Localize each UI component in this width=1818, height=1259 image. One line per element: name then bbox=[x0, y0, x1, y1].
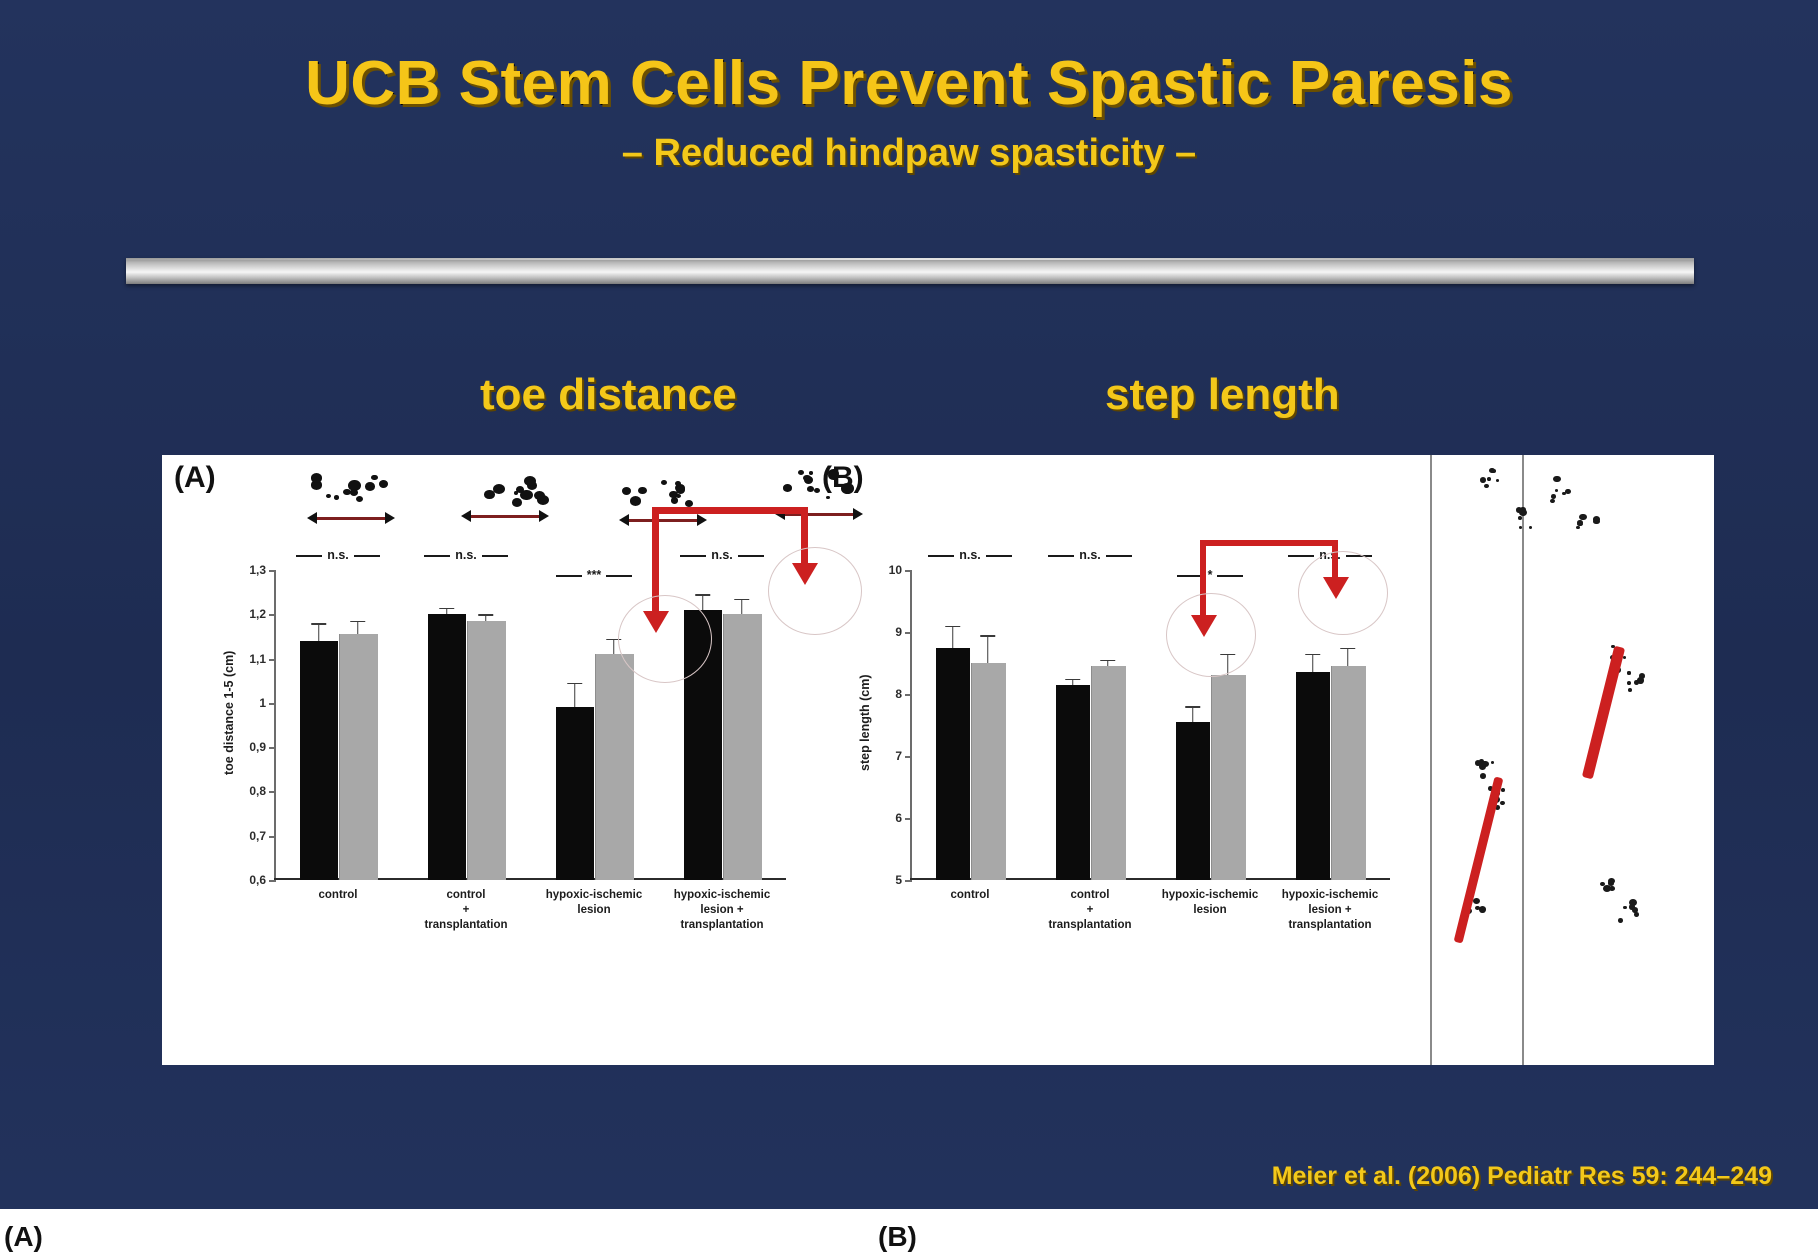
external-label-a: (A) bbox=[4, 1221, 43, 1253]
paw-pad bbox=[1553, 476, 1560, 483]
error-bar bbox=[1312, 654, 1314, 673]
y-tick bbox=[269, 703, 276, 705]
x-category-label: hypoxic-ischemic lesion bbox=[1150, 888, 1270, 918]
paw-pad bbox=[1484, 484, 1489, 489]
paw-pad bbox=[1576, 526, 1579, 529]
paw-pad bbox=[676, 494, 681, 498]
paw-pad bbox=[1550, 499, 1555, 504]
y-tick-label: 0,7 bbox=[249, 829, 266, 843]
paw-pad bbox=[1501, 788, 1505, 792]
paw-pad bbox=[1637, 677, 1645, 684]
error-bar bbox=[1107, 660, 1109, 666]
y-tick bbox=[269, 614, 276, 616]
distance-arrow bbox=[316, 517, 386, 520]
paw-pad bbox=[537, 495, 549, 505]
paw-pad bbox=[1519, 509, 1527, 516]
significance-annotation: n.s. bbox=[910, 548, 1030, 562]
bar bbox=[339, 634, 378, 880]
paw-print bbox=[1590, 865, 1616, 895]
paw-pad bbox=[1608, 878, 1615, 884]
paw-pad bbox=[1519, 526, 1523, 529]
bar bbox=[1296, 672, 1330, 880]
paw-pad bbox=[1491, 469, 1495, 473]
chart-a-plot-area: 1,31,21,110,90,80,70,6 bbox=[274, 570, 786, 880]
error-bar bbox=[485, 614, 487, 621]
paw-print bbox=[1478, 465, 1504, 495]
paw-pad bbox=[1628, 688, 1633, 692]
red-trajectory-line-right bbox=[1582, 646, 1625, 780]
y-tick bbox=[269, 570, 276, 572]
paw-pad bbox=[1623, 906, 1626, 909]
paw-pad bbox=[685, 500, 693, 507]
paw-print bbox=[1510, 503, 1536, 533]
citation: Meier et al. (2006) Pediatr Res 59: 244–… bbox=[1272, 1162, 1772, 1191]
paw-pad bbox=[1491, 761, 1494, 764]
y-tick-label: 0,9 bbox=[249, 740, 266, 754]
highlight-ellipse-b-right bbox=[1298, 551, 1388, 635]
bar bbox=[300, 641, 338, 880]
x-category-label: hypoxic-ischemic lesion bbox=[530, 888, 658, 918]
paw-pad bbox=[1487, 477, 1491, 481]
paw-pad bbox=[1627, 671, 1630, 674]
y-tick-label: 7 bbox=[895, 749, 902, 763]
significance-annotation: n.s. bbox=[658, 548, 786, 562]
y-tick-label: 0,6 bbox=[249, 873, 266, 887]
y-tick bbox=[269, 791, 276, 793]
error-bar bbox=[613, 639, 615, 655]
paw-pad bbox=[326, 494, 331, 498]
x-category-label: control + transplantation bbox=[1030, 888, 1150, 933]
paw-print-cluster bbox=[454, 467, 564, 533]
paw-pad bbox=[1496, 479, 1499, 482]
paw-pad bbox=[798, 470, 804, 475]
bar bbox=[723, 614, 762, 880]
figure-panel: (A) (B) toe distance 1-5 (cm) 1,31,21,11… bbox=[162, 455, 1714, 1065]
y-tick bbox=[269, 747, 276, 749]
paw-pad bbox=[1593, 516, 1600, 522]
y-tick-label: 8 bbox=[895, 687, 902, 701]
paw-pad bbox=[676, 485, 686, 493]
significance-annotation: n.s. bbox=[274, 548, 402, 562]
paw-pad bbox=[809, 471, 813, 475]
paw-pad bbox=[1555, 489, 1558, 492]
error-bar bbox=[318, 623, 320, 641]
distance-arrow bbox=[628, 519, 698, 522]
x-category-label: hypoxic-ischemic lesion + transplantatio… bbox=[658, 888, 786, 933]
y-tick-label: 5 bbox=[895, 873, 902, 887]
bar bbox=[1176, 722, 1210, 880]
paw-pad bbox=[1629, 899, 1637, 906]
bar bbox=[971, 663, 1006, 880]
bar bbox=[1211, 675, 1246, 880]
paw-print bbox=[1616, 895, 1642, 925]
bar bbox=[595, 654, 634, 880]
chart-b-y-axis bbox=[910, 570, 912, 880]
chart-a-y-axis-title: toe distance 1-5 (cm) bbox=[222, 651, 236, 775]
paw-pad bbox=[1479, 906, 1487, 913]
paw-pad bbox=[638, 487, 647, 495]
divider-bar bbox=[126, 258, 1694, 284]
significance-annotation: n.s. bbox=[402, 548, 530, 562]
y-tick bbox=[905, 880, 912, 882]
paw-pad bbox=[311, 473, 323, 483]
highlight-ellipse-a-left bbox=[618, 595, 712, 683]
paw-print bbox=[1626, 667, 1652, 697]
paw-pad bbox=[814, 488, 820, 493]
x-category-label: control bbox=[274, 888, 402, 903]
error-bar bbox=[1072, 679, 1074, 685]
paw-print-cluster bbox=[612, 471, 722, 537]
error-bar bbox=[446, 608, 448, 615]
red-annotation-line-a-horizontal bbox=[652, 507, 808, 514]
bar bbox=[1091, 666, 1126, 880]
error-bar bbox=[987, 635, 989, 663]
y-tick bbox=[905, 818, 912, 820]
bar bbox=[936, 648, 970, 881]
paw-pad bbox=[1481, 761, 1488, 768]
error-bar bbox=[702, 594, 704, 610]
paw-pad bbox=[1577, 522, 1582, 527]
distance-arrow bbox=[470, 515, 540, 518]
chart-a-y-axis bbox=[274, 570, 276, 880]
page-subtitle: – Reduced hindpaw spasticity – bbox=[0, 132, 1818, 175]
paw-pad bbox=[622, 487, 631, 495]
y-tick-label: 9 bbox=[895, 625, 902, 639]
footprint-strip bbox=[1430, 455, 1714, 1065]
y-tick bbox=[905, 570, 912, 572]
y-tick-label: 0,8 bbox=[249, 784, 266, 798]
slide: UCB Stem Cells Prevent Spastic Paresis –… bbox=[0, 0, 1818, 1209]
external-label-b: (B) bbox=[878, 1221, 917, 1253]
paw-pad bbox=[803, 475, 810, 481]
y-tick-label: 6 bbox=[895, 811, 902, 825]
red-trajectory-line-left bbox=[1454, 776, 1504, 943]
error-bar bbox=[952, 626, 954, 648]
paw-print bbox=[1576, 513, 1602, 543]
caption-toe-distance: toe distance bbox=[480, 370, 737, 420]
error-bar bbox=[1347, 648, 1349, 667]
bar bbox=[428, 614, 466, 880]
paw-pad bbox=[512, 498, 522, 507]
y-tick bbox=[269, 659, 276, 661]
significance-annotation: * bbox=[1150, 568, 1270, 582]
error-bar bbox=[574, 683, 576, 707]
paw-pad bbox=[671, 497, 679, 504]
paw-pad bbox=[371, 475, 377, 480]
bar bbox=[556, 707, 594, 880]
paw-pad bbox=[524, 476, 536, 486]
paw-pad bbox=[661, 480, 667, 485]
highlight-ellipse-b-left bbox=[1166, 593, 1256, 677]
y-tick-label: 10 bbox=[889, 563, 902, 577]
y-tick-label: 1,3 bbox=[249, 563, 266, 577]
y-tick bbox=[905, 632, 912, 634]
paw-print-cluster bbox=[300, 469, 410, 535]
paw-pad bbox=[350, 489, 358, 496]
paw-pad bbox=[334, 495, 340, 500]
paw-pad bbox=[379, 480, 389, 488]
paw-pad bbox=[1475, 760, 1481, 766]
chart-toe-distance: toe distance 1-5 (cm) 1,31,21,110,90,80,… bbox=[182, 455, 822, 1065]
strip-divider-mid bbox=[1522, 455, 1524, 1065]
y-tick bbox=[905, 756, 912, 758]
paw-pad bbox=[1603, 885, 1611, 892]
paw-pad bbox=[1618, 918, 1623, 923]
bar bbox=[1331, 666, 1366, 880]
paw-pad bbox=[1623, 656, 1626, 659]
paw-print bbox=[1548, 475, 1574, 505]
paw-pad bbox=[514, 491, 518, 495]
page-title: UCB Stem Cells Prevent Spastic Paresis bbox=[0, 48, 1818, 119]
paw-pad bbox=[1565, 489, 1570, 494]
paw-pad bbox=[1473, 898, 1480, 904]
paw-pad bbox=[1551, 494, 1556, 499]
paw-pad bbox=[1500, 801, 1505, 806]
y-tick-label: 1 bbox=[259, 696, 266, 710]
paw-pad bbox=[1627, 681, 1632, 685]
paw-pad bbox=[1529, 526, 1532, 529]
x-category-label: control + transplantation bbox=[402, 888, 530, 933]
error-bar bbox=[357, 621, 359, 634]
y-tick bbox=[905, 694, 912, 696]
paw-pad bbox=[807, 486, 814, 492]
paw-pad bbox=[1480, 773, 1486, 778]
error-bar bbox=[1192, 706, 1194, 722]
bar bbox=[1056, 685, 1090, 880]
y-tick-label: 1,1 bbox=[249, 652, 266, 666]
paw-pad bbox=[484, 490, 494, 499]
paw-pad bbox=[356, 496, 363, 502]
x-category-label: control bbox=[910, 888, 1030, 903]
y-tick-label: 1,2 bbox=[249, 607, 266, 621]
significance-annotation: n.s. bbox=[1030, 548, 1150, 562]
highlight-ellipse-a-right bbox=[768, 547, 862, 635]
significance-annotation: *** bbox=[530, 568, 658, 582]
bar bbox=[467, 621, 506, 880]
paw-pad bbox=[1634, 912, 1639, 917]
paw-pad bbox=[1562, 492, 1566, 495]
error-bar bbox=[741, 599, 743, 615]
paw-pad bbox=[630, 496, 641, 506]
caption-step-length: step length bbox=[1105, 370, 1340, 420]
x-category-label: hypoxic-ischemic lesion + transplantatio… bbox=[1270, 888, 1390, 933]
paw-pad bbox=[783, 484, 792, 491]
paw-pad bbox=[1518, 516, 1522, 520]
red-annotation-line-b-horizontal bbox=[1200, 540, 1338, 546]
paw-pad bbox=[1480, 477, 1486, 483]
y-tick bbox=[269, 836, 276, 838]
strip-divider-left bbox=[1430, 455, 1432, 1065]
chart-b-y-axis-title: step length (cm) bbox=[858, 674, 872, 771]
y-tick bbox=[269, 880, 276, 882]
paw-pad bbox=[365, 482, 375, 490]
